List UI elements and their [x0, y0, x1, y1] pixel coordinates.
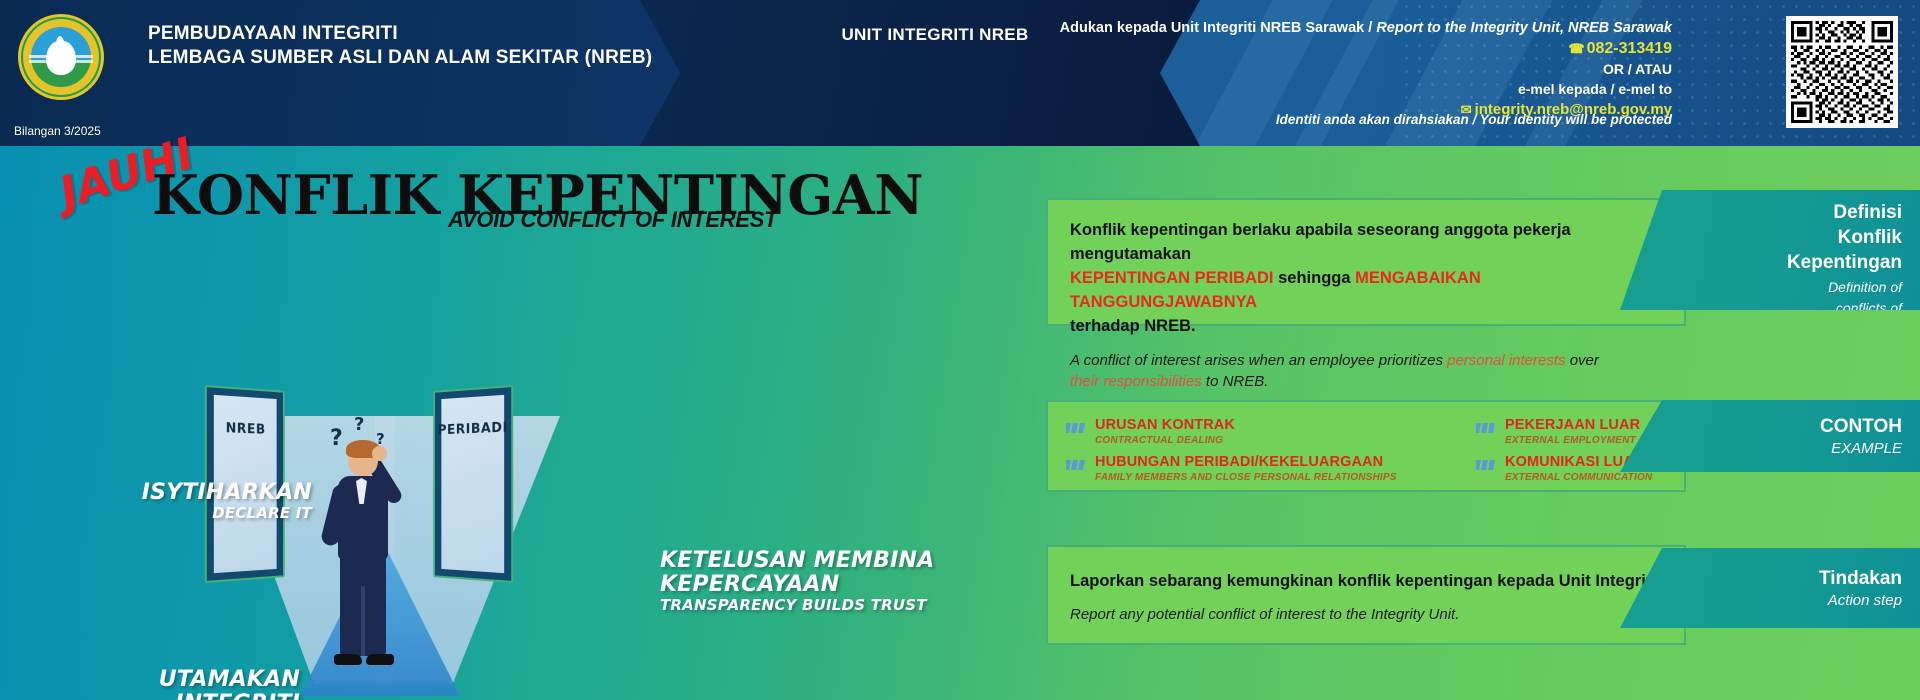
- definition-en-part-3: to NREB.: [1206, 373, 1269, 390]
- question-mark-icon: ?: [354, 414, 364, 435]
- definition-bm-text: Konflik kepentingan berlaku apabila sese…: [1070, 218, 1662, 338]
- example-subtitle: EXTERNAL COMMUNICATION: [1505, 471, 1665, 485]
- caption-declare-bm: ISYTIHARKAN: [112, 481, 312, 505]
- definition-bm-part-3: terhadap NREB.: [1070, 317, 1196, 335]
- qr-code[interactable]: [1786, 16, 1898, 128]
- tab-example-sub: EXAMPLE: [1676, 439, 1902, 459]
- phone-line[interactable]: ☎082-313419: [972, 38, 1672, 59]
- door-nreb-label: NREB: [205, 420, 285, 438]
- chevrons-right-icon: [1066, 457, 1088, 475]
- or-text: OR / ATAU: [972, 59, 1672, 79]
- panel-action: Laporkan sebarang kemungkinan konflik ke…: [1046, 545, 1686, 645]
- phone-number: 082-313419: [1587, 40, 1672, 57]
- definition-bm-red-1: KEPENTINGAN PERIBADI: [1070, 269, 1274, 287]
- door-peribadi: PERIBADI: [433, 385, 513, 583]
- identity-note: Identiti anda akan dirahsiakan / Your id…: [912, 112, 1672, 127]
- example-subtitle: EXTERNAL EMPLOYMENT: [1505, 434, 1640, 448]
- action-bm-text: Laporkan sebarang kemungkinan konflik ke…: [1070, 569, 1662, 593]
- panel-examples: URUSAN KONTRAK CONTRACTUAL DEALING PEKER…: [1046, 400, 1686, 492]
- report-separator: /: [1368, 20, 1372, 36]
- door-peribadi-label: PERIBADI: [433, 420, 513, 438]
- caption-integrity: UTAMAKAN INTEGRITI INTEGRITY FIRST: [30, 668, 300, 700]
- chevrons-right-icon: [1476, 457, 1498, 475]
- tab-action[interactable]: Tindakan Action step: [1620, 548, 1920, 628]
- definition-en-text: A conflict of interest arises when an em…: [1070, 350, 1662, 392]
- definition-en-part-2: over: [1570, 352, 1599, 369]
- tab-action-sub: Action step: [1676, 591, 1902, 611]
- tab-definition-title-2: Konflik: [1676, 225, 1902, 250]
- caption-transparency-bm-1: KETELUSAN MEMBINA: [660, 549, 960, 573]
- illustration: NREB PERIBADI ? ? ? ISYTIHARKAN DECLARE: [0, 146, 820, 700]
- definition-bm-part-1: Konflik kepentingan berlaku apabila sese…: [1070, 221, 1571, 263]
- tab-definition-title-1: Definisi: [1676, 200, 1902, 225]
- chevrons-right-glyph: [1066, 460, 1088, 470]
- org-line-2: LEMBAGA SUMBER ASLI DAN ALAM SEKITAR (NR…: [148, 46, 652, 70]
- action-en-text: Report any potential conflict of interes…: [1070, 604, 1662, 625]
- caption-integrity-bm: UTAMAKAN INTEGRITI: [30, 668, 300, 700]
- tab-definition-sub-1: Definition of: [1676, 278, 1902, 296]
- email-label: e-mel kepada / e-mel to: [972, 79, 1672, 99]
- issue-number: Bilangan 3/2025: [14, 124, 101, 138]
- report-label: Adukan kepada Unit Integriti NREB Sarawa…: [972, 18, 1672, 38]
- person-illustration: ? ? ?: [310, 436, 420, 686]
- example-subtitle: FAMILY MEMBERS AND CLOSE PERSONAL RELATI…: [1095, 471, 1397, 485]
- definition-bm-part-2: sehingga: [1278, 269, 1350, 287]
- chevrons-right-glyph: [1476, 423, 1498, 433]
- nreb-logo: [18, 14, 104, 100]
- caption-declare-en: DECLARE IT: [112, 505, 312, 522]
- phone-icon: ☎: [1568, 41, 1584, 56]
- chevrons-right-icon: [1476, 420, 1498, 438]
- organisation-title: PEMBUDAYAAN INTEGRITI LEMBAGA SUMBER ASL…: [148, 22, 652, 70]
- chevrons-right-glyph: [1066, 423, 1088, 433]
- infographic-poster: PEMBUDAYAAN INTEGRITI LEMBAGA SUMBER ASL…: [0, 0, 1920, 700]
- tab-action-title: Tindakan: [1676, 566, 1902, 591]
- caption-transparency: KETELUSAN MEMBINA KEPERCAYAAN TRANSPAREN…: [660, 549, 960, 614]
- definition-en-part-1: A conflict of interest arises when an em…: [1070, 352, 1443, 369]
- tab-definition-title-3: Kepentingan: [1676, 250, 1902, 275]
- example-item: URUSAN KONTRAK CONTRACTUAL DEALING: [1066, 416, 1466, 448]
- org-line-1: PEMBUDAYAAN INTEGRITI: [148, 22, 652, 46]
- example-title: HUBUNGAN PERIBADI/KEKELUARGAAN: [1095, 454, 1383, 470]
- example-subtitle: CONTRACTUAL DEALING: [1095, 434, 1235, 448]
- definition-en-red-1: personal interests: [1447, 352, 1565, 369]
- panel-definition: Konflik kepentingan berlaku apabila sese…: [1046, 198, 1686, 326]
- chevrons-right-glyph: [1476, 460, 1498, 470]
- example-item: HUBUNGAN PERIBADI/KEKELUARGAAN FAMILY ME…: [1066, 453, 1466, 485]
- example-title: PEKERJAAN LUAR: [1505, 417, 1640, 433]
- tab-example[interactable]: CONTOH EXAMPLE: [1620, 400, 1920, 472]
- chevrons-right-icon: [1066, 420, 1088, 438]
- question-mark-icon: ?: [330, 426, 343, 451]
- example-title: URUSAN KONTRAK: [1095, 417, 1235, 433]
- qr-code-icon: [1791, 21, 1893, 123]
- report-label-en: Report to the Integrity Unit, NREB Saraw…: [1376, 20, 1672, 36]
- page-header: PEMBUDAYAAN INTEGRITI LEMBAGA SUMBER ASL…: [0, 0, 1920, 146]
- tab-example-title: CONTOH: [1676, 414, 1902, 439]
- caption-transparency-bm-2: KEPERCAYAAN: [660, 573, 960, 597]
- definition-en-red-2: their responsibilities: [1070, 373, 1202, 390]
- report-contact-block: Adukan kepada Unit Integriti NREB Sarawa…: [972, 18, 1672, 120]
- caption-declare: ISYTIHARKAN DECLARE IT: [112, 481, 312, 522]
- report-label-bm: Adukan kepada Unit Integriti NREB Sarawa…: [1060, 20, 1365, 36]
- tab-definition[interactable]: Definisi Konflik Kepentingan Definition …: [1620, 190, 1920, 310]
- caption-transparency-en: TRANSPARENCY BUILDS TRUST: [660, 597, 960, 614]
